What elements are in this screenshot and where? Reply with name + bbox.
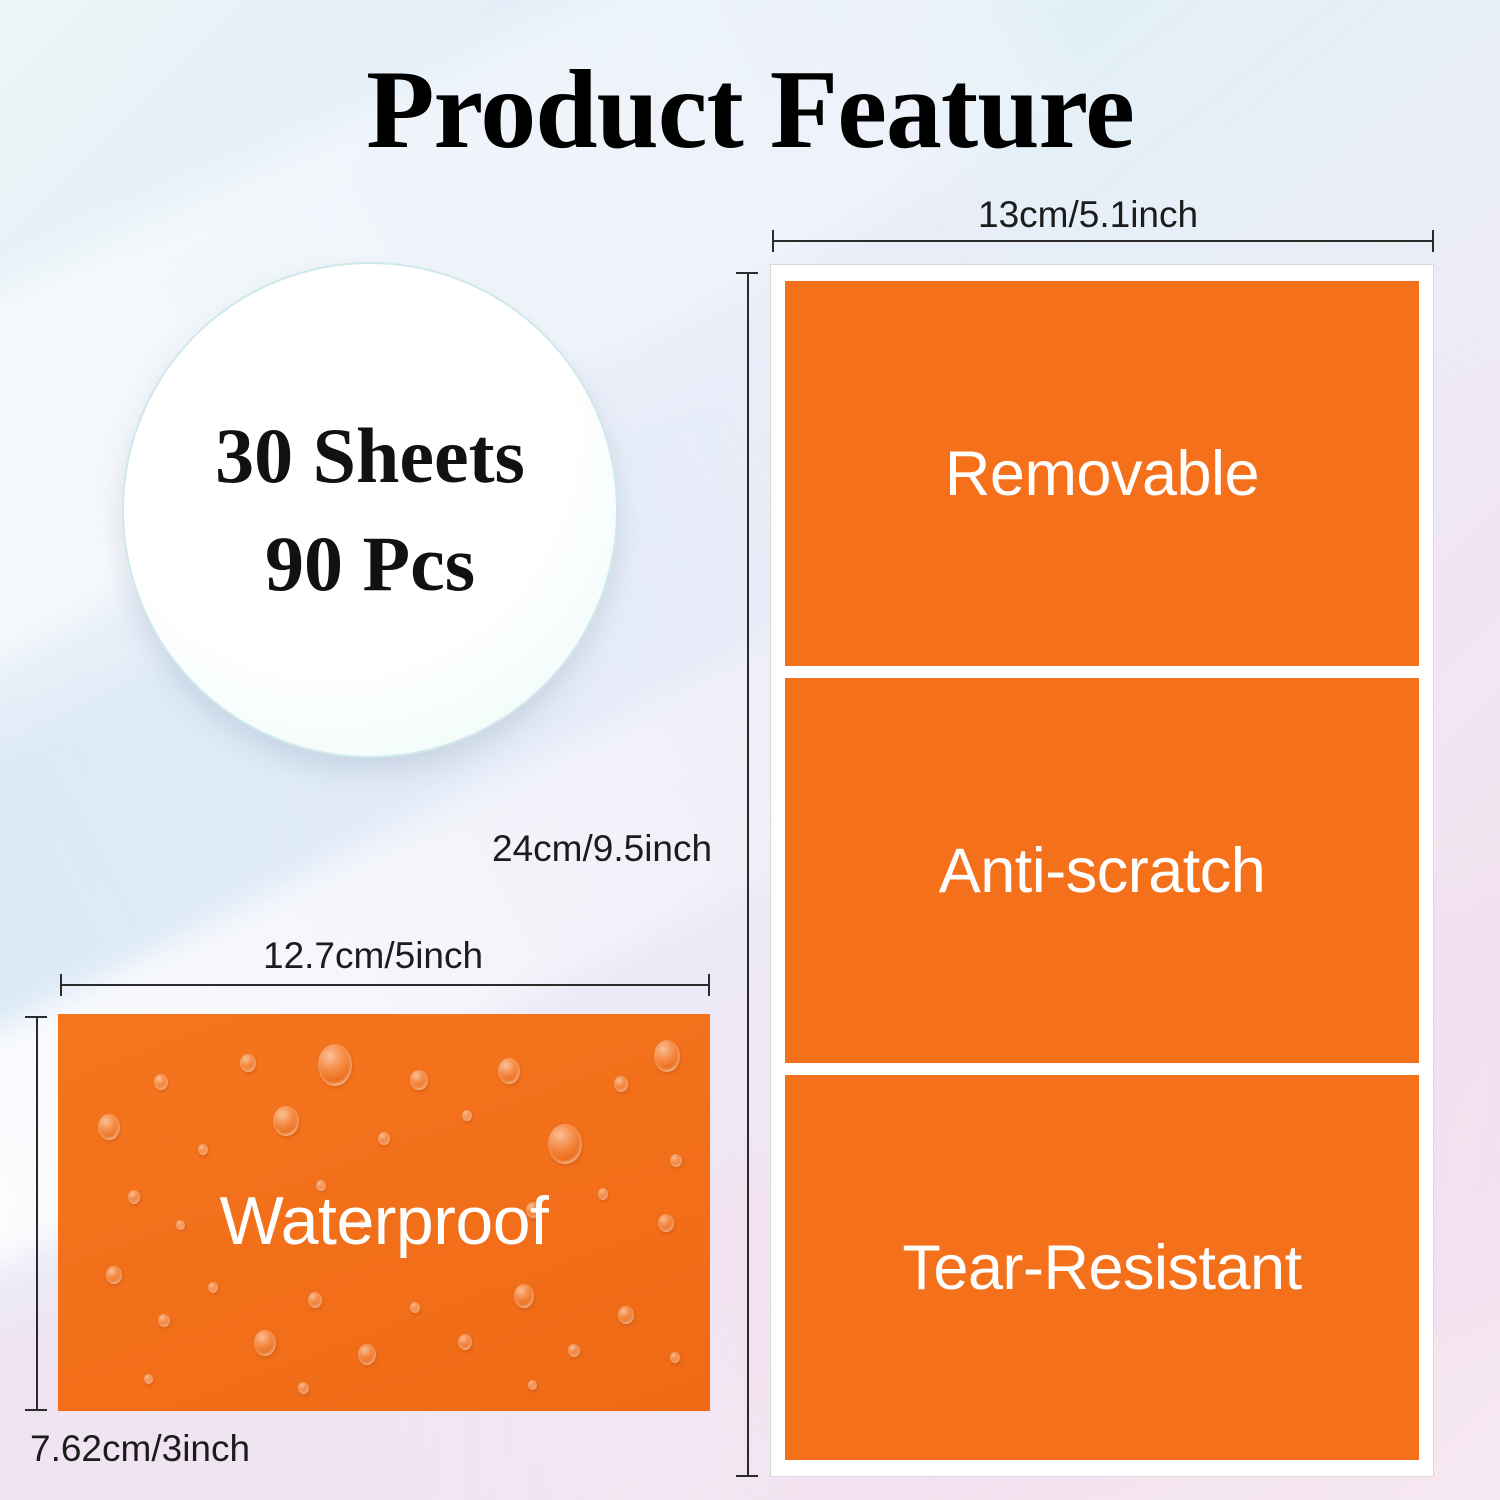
water-droplet <box>254 1330 276 1356</box>
feature-tile-removable: Removable <box>785 281 1419 666</box>
feature-tile-anti-scratch: Anti-scratch <box>785 678 1419 1063</box>
feature-tile-tear-resistant: Tear-Resistant <box>785 1075 1419 1460</box>
water-droplet <box>548 1124 582 1164</box>
waterproof-width-rule-cap-left <box>60 974 62 996</box>
water-droplet <box>528 1380 537 1390</box>
waterproof-label: Waterproof <box>58 1182 710 1260</box>
water-droplet <box>498 1058 520 1084</box>
right-sheet-height-rule <box>747 272 749 1477</box>
feature-sheet: Removable Anti-scratch Tear-Resistant <box>770 264 1434 1477</box>
right-sheet-height-label: 24cm/9.5inch <box>492 828 712 870</box>
water-droplet <box>98 1114 120 1140</box>
water-droplet <box>308 1292 322 1308</box>
water-droplet <box>240 1054 256 1072</box>
water-droplet <box>198 1144 208 1155</box>
feature-tile-tear-resistant-label: Tear-Resistant <box>902 1232 1301 1304</box>
water-droplet <box>208 1282 218 1293</box>
right-sheet-width-label: 13cm/5.1inch <box>978 194 1198 236</box>
waterproof-sample-card: Waterproof <box>58 1014 710 1411</box>
right-sheet-height-rule-cap-bottom <box>736 1475 758 1477</box>
water-droplet <box>462 1110 472 1121</box>
waterproof-width-rule-cap-right <box>708 974 710 996</box>
water-droplet <box>618 1306 634 1324</box>
feature-tile-anti-scratch-label: Anti-scratch <box>939 835 1266 907</box>
right-sheet-height-rule-cap-top <box>736 272 758 274</box>
waterproof-height-label: 7.62cm/3inch <box>30 1428 250 1470</box>
sheet-count-badge: 30 Sheets 90 Pcs <box>122 262 618 758</box>
water-droplet <box>144 1374 153 1384</box>
water-droplet <box>378 1132 390 1145</box>
feature-tile-removable-label: Removable <box>945 438 1259 510</box>
waterproof-height-rule-cap-bottom <box>25 1409 47 1411</box>
badge-line-pieces: 90 Pcs <box>265 510 475 618</box>
water-droplet <box>670 1352 680 1363</box>
water-droplet <box>298 1382 309 1394</box>
water-droplet <box>358 1344 376 1365</box>
water-droplet <box>106 1266 122 1284</box>
waterproof-height-rule-cap-top <box>25 1016 47 1018</box>
water-droplet <box>410 1302 420 1313</box>
water-droplet <box>514 1284 534 1308</box>
waterproof-width-label: 12.7cm/5inch <box>263 935 483 977</box>
waterproof-width-rule <box>60 984 710 986</box>
badge-line-sheets: 30 Sheets <box>215 402 525 510</box>
water-droplet <box>654 1040 680 1072</box>
product-feature-infographic: Product Feature 30 Sheets 90 Pcs 13cm/5.… <box>0 0 1500 1500</box>
water-droplet <box>318 1044 352 1086</box>
water-droplet <box>273 1106 299 1136</box>
waterproof-height-rule <box>36 1016 38 1411</box>
water-droplet <box>568 1344 580 1357</box>
water-droplet <box>458 1334 472 1350</box>
water-droplet <box>670 1154 682 1167</box>
water-droplet <box>410 1070 428 1090</box>
right-sheet-width-rule-cap-right <box>1432 230 1434 252</box>
water-droplet <box>154 1074 168 1090</box>
right-sheet-width-rule-cap-left <box>772 230 774 252</box>
right-sheet-width-rule <box>772 240 1434 242</box>
page-title: Product Feature <box>0 52 1500 170</box>
water-droplet <box>158 1314 170 1327</box>
water-droplet <box>614 1076 628 1092</box>
